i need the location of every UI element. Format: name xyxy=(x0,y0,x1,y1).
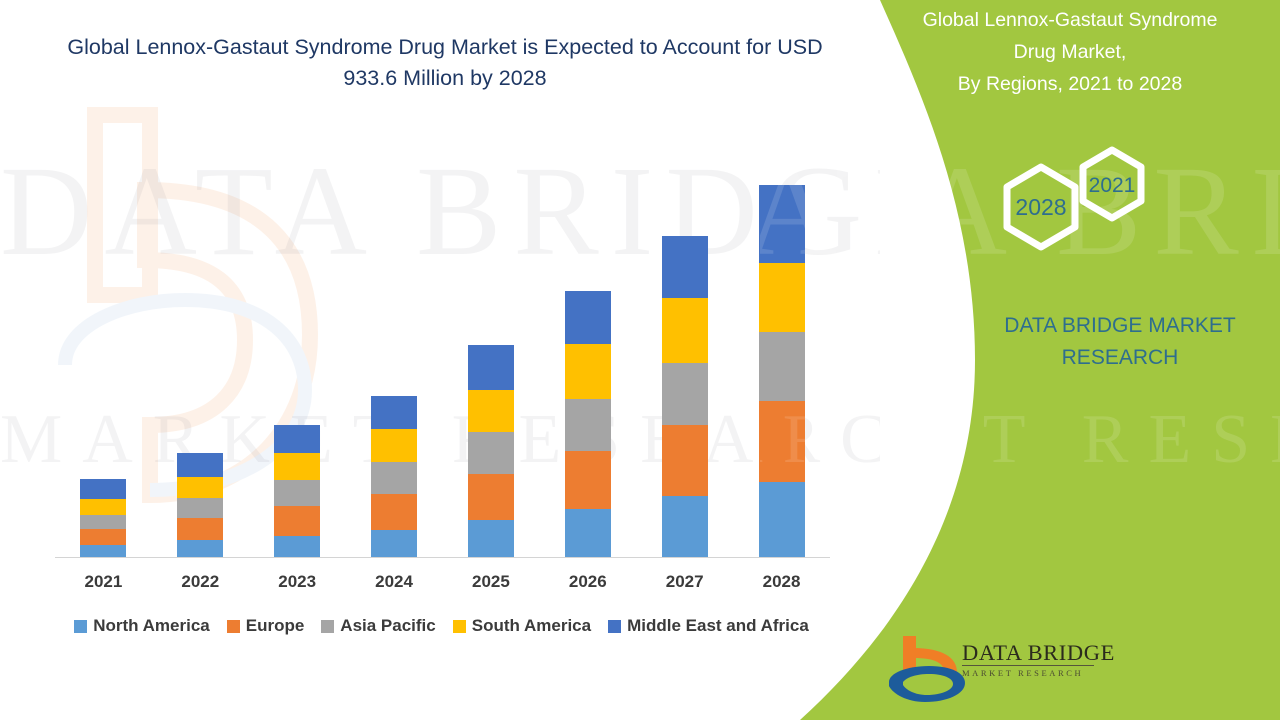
bar-segment xyxy=(80,499,126,515)
brand-title-line-3: By Regions, 2021 to 2028 xyxy=(880,68,1260,100)
bar-segment xyxy=(274,536,320,558)
bar-segment xyxy=(662,425,708,496)
page-title: Global Lennox-Gastaut Syndrome Drug Mark… xyxy=(45,32,845,94)
bar-segment xyxy=(371,462,417,494)
x-axis-label: 2022 xyxy=(152,572,249,592)
bar-segment xyxy=(177,498,223,518)
legend-swatch-icon xyxy=(227,620,240,633)
chart-panel: DATA BRIDGE MARKET RESEARCH Global Lenno… xyxy=(0,0,880,720)
legend-swatch-icon xyxy=(74,620,87,633)
bar-segment xyxy=(371,396,417,429)
bar-segment xyxy=(468,345,514,389)
legend-label: Asia Pacific xyxy=(340,616,435,636)
legend-item[interactable]: Asia Pacific xyxy=(321,616,435,636)
legend-swatch-icon xyxy=(321,620,334,633)
bar-segment xyxy=(565,344,611,398)
logo-wordmark: DATA BRIDGE xyxy=(962,640,1112,666)
bar-segment xyxy=(662,496,708,558)
bar-segment xyxy=(371,429,417,462)
chart-plot-area xyxy=(55,150,830,558)
bar-segment xyxy=(274,480,320,506)
brand-name-line-2: RESEARCH xyxy=(960,342,1280,374)
bar-segment xyxy=(80,515,126,529)
legend-swatch-icon xyxy=(608,620,621,633)
bar-segment xyxy=(80,529,126,545)
bar-segment xyxy=(565,399,611,451)
bar-segment xyxy=(565,451,611,509)
logo-tagline: MARKET RESEARCH xyxy=(962,668,1112,678)
bar-2026[interactable] xyxy=(565,291,611,558)
bar-segment xyxy=(468,390,514,432)
bar-segment xyxy=(662,236,708,298)
brand-title-line-1: Global Lennox-Gastaut Syndrome xyxy=(880,4,1260,36)
x-axis-label: 2023 xyxy=(249,572,346,592)
bar-segment xyxy=(177,518,223,540)
x-axis-label: 2024 xyxy=(346,572,443,592)
bar-2022[interactable] xyxy=(177,453,223,558)
bar-segment xyxy=(80,479,126,499)
x-axis-line xyxy=(55,557,830,558)
brand-title-line-2: Drug Market, xyxy=(880,36,1260,68)
bar-segment xyxy=(274,453,320,480)
x-axis-label: 2025 xyxy=(443,572,540,592)
brand-panel-title: Global Lennox-Gastaut Syndrome Drug Mark… xyxy=(880,4,1260,100)
x-axis-label: 2027 xyxy=(636,572,733,592)
bar-segment xyxy=(468,520,514,558)
bar-segment xyxy=(371,494,417,530)
hexagon-2028-label: 2028 xyxy=(1015,194,1066,220)
bar-segment xyxy=(177,540,223,558)
bar-segment xyxy=(274,506,320,536)
brand-name-line-1: DATA BRIDGE MARKET xyxy=(960,310,1280,342)
bar-segment xyxy=(565,509,611,558)
bar-segment xyxy=(177,477,223,498)
bar-segment xyxy=(468,474,514,520)
bar-segment xyxy=(371,530,417,558)
x-axis-labels: 20212022202320242025202620272028 xyxy=(55,572,830,602)
bar-2023[interactable] xyxy=(274,425,320,558)
legend-label: South America xyxy=(472,616,591,636)
hexagon-badges: 2028 2021 xyxy=(975,145,1190,285)
bar-2021[interactable] xyxy=(80,479,126,558)
hexagon-2021-label: 2021 xyxy=(1089,174,1136,197)
x-axis-label: 2021 xyxy=(55,572,152,592)
legend-swatch-icon xyxy=(453,620,466,633)
bar-segment xyxy=(177,453,223,477)
bar-2024[interactable] xyxy=(371,396,417,558)
bar-2027[interactable] xyxy=(662,236,708,558)
bar-2025[interactable] xyxy=(468,345,514,558)
brand-name: DATA BRIDGE MARKET RESEARCH xyxy=(960,310,1280,374)
bar-segment xyxy=(662,363,708,425)
bar-segment xyxy=(274,425,320,453)
bar-segment xyxy=(468,432,514,474)
legend-item[interactable]: South America xyxy=(453,616,591,636)
legend-item[interactable]: Europe xyxy=(227,616,305,636)
x-axis-label: 2026 xyxy=(539,572,636,592)
bar-segment xyxy=(662,298,708,362)
legend-item[interactable]: North America xyxy=(74,616,210,636)
legend-label: Europe xyxy=(246,616,305,636)
chart-legend: North AmericaEuropeAsia PacificSouth Ame… xyxy=(55,616,845,636)
bar-segment xyxy=(565,291,611,344)
logo-divider xyxy=(962,665,1094,666)
infographic-root: DATA BRIDGE MARKET RESEARCH Global Lenno… xyxy=(0,0,1280,720)
legend-label: North America xyxy=(93,616,210,636)
